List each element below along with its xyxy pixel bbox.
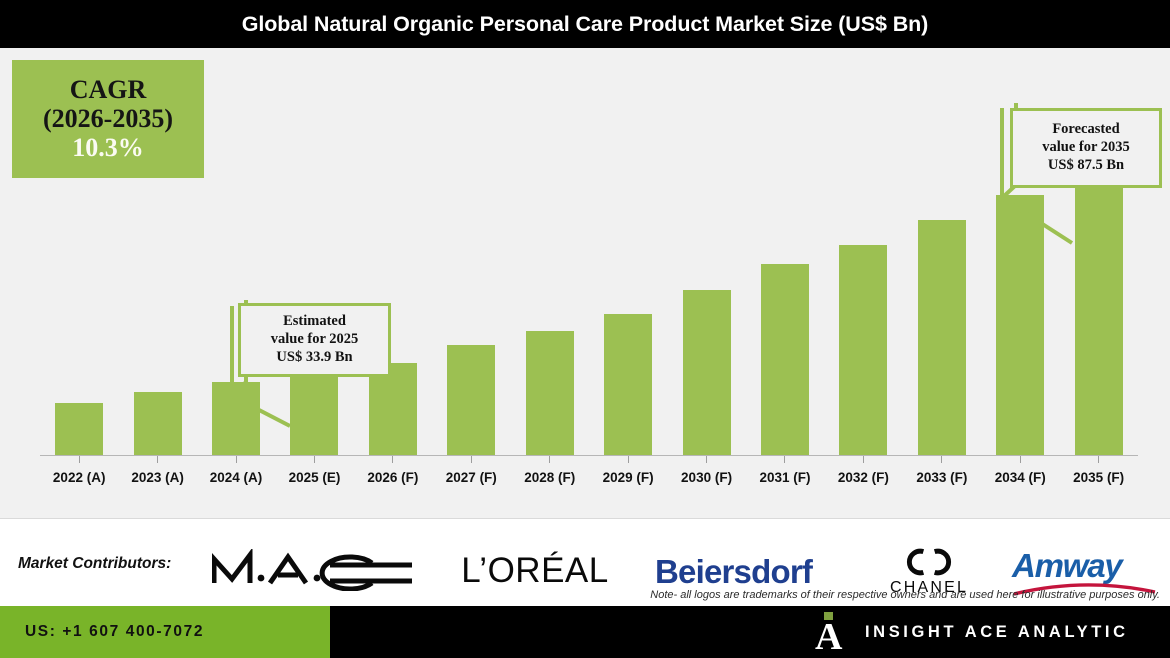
bar-slot <box>667 48 745 456</box>
x-tick: 2032 (F) <box>824 456 902 498</box>
bar[interactable] <box>918 220 966 456</box>
x-tick-mark <box>549 456 550 463</box>
title-bar: Global Natural Organic Personal Care Pro… <box>0 0 1170 48</box>
x-tick: 2028 (F) <box>511 456 589 498</box>
x-tick-label: 2034 (F) <box>995 470 1046 485</box>
bar[interactable] <box>839 245 887 456</box>
bar-slot <box>275 48 353 456</box>
x-tick: 2023 (A) <box>118 456 196 498</box>
market-contributors-band: Market Contributors: L’ORÉAL Beiersdorf <box>0 518 1170 606</box>
x-tick-mark <box>392 456 393 463</box>
callout-forecast-line1: Forecasted <box>1052 121 1119 139</box>
cagr-value: 10.3% <box>72 133 144 164</box>
x-tick-mark <box>471 456 472 463</box>
x-tick: 2035 (F) <box>1059 456 1137 498</box>
infographic-page: Global Natural Organic Personal Care Pro… <box>0 0 1170 658</box>
callout-estimated-2025: Estimated value for 2025 US$ 33.9 Bn <box>238 303 391 377</box>
x-tick: 2031 (F) <box>746 456 824 498</box>
cagr-period: (2026-2035) <box>43 104 173 133</box>
bar[interactable] <box>604 314 652 456</box>
footer-bar: US: +1 607 400-7072 A INSIGHT ACE ANALYT… <box>0 606 1170 658</box>
x-tick-label: 2023 (A) <box>131 470 184 485</box>
callout-forecast-line3: US$ 87.5 Bn <box>1048 157 1124 175</box>
loreal-logo: L’ORÉAL <box>440 551 630 591</box>
bar[interactable] <box>134 392 182 456</box>
brand-lockup: A INSIGHT ACE ANALYTIC <box>815 606 1129 658</box>
x-tick: 2025 (E) <box>275 456 353 498</box>
bar-slot <box>903 48 981 456</box>
bar[interactable] <box>447 345 495 456</box>
x-tick-mark <box>863 456 864 463</box>
x-tick-label: 2027 (F) <box>446 470 497 485</box>
footer-phone[interactable]: US: +1 607 400-7072 <box>25 623 204 641</box>
footer-contact-block: US: +1 607 400-7072 <box>0 606 330 658</box>
callout-forecast-line2: value for 2035 <box>1042 139 1130 157</box>
x-tick: 2030 (F) <box>667 456 745 498</box>
x-tick-mark <box>1020 456 1021 463</box>
bar-slot <box>589 48 667 456</box>
x-tick: 2027 (F) <box>432 456 510 498</box>
bar-slot <box>824 48 902 456</box>
x-tick: 2022 (A) <box>40 456 118 498</box>
x-tick-label: 2035 (F) <box>1073 470 1124 485</box>
bar[interactable] <box>683 290 731 456</box>
bar[interactable] <box>996 195 1044 456</box>
x-tick-label: 2024 (A) <box>210 470 263 485</box>
logo-disclaimer-note: Note- all logos are trademarks of their … <box>650 589 1160 601</box>
bar[interactable] <box>1075 160 1123 456</box>
insightace-logo-icon: A <box>815 612 847 652</box>
page-title: Global Natural Organic Personal Care Pro… <box>242 12 928 37</box>
bar[interactable] <box>55 403 103 456</box>
x-tick-mark <box>941 456 942 463</box>
brand-name: INSIGHT ACE ANALYTIC <box>865 623 1129 642</box>
x-tick-mark <box>1098 456 1099 463</box>
x-tick-mark <box>628 456 629 463</box>
chanel-double-c-icon <box>891 546 967 578</box>
x-tick-mark <box>157 456 158 463</box>
x-tick-label: 2030 (F) <box>681 470 732 485</box>
bar[interactable] <box>526 331 574 456</box>
x-tick-label: 2025 (E) <box>289 470 341 485</box>
bar[interactable] <box>761 264 809 456</box>
bar[interactable] <box>212 382 260 456</box>
cagr-label: CAGR <box>70 75 147 104</box>
x-tick-label: 2028 (F) <box>524 470 575 485</box>
callout-forecast-2035: Forecasted value for 2035 US$ 87.5 Bn <box>1010 108 1162 188</box>
bar-slot <box>511 48 589 456</box>
x-tick-label: 2022 (A) <box>53 470 106 485</box>
callout-estimated-line1: Estimated <box>283 313 346 331</box>
x-tick-label: 2026 (F) <box>367 470 418 485</box>
x-tick: 2033 (F) <box>903 456 981 498</box>
x-tick-mark <box>236 456 237 463</box>
x-tick-mark <box>706 456 707 463</box>
x-tick: 2034 (F) <box>981 456 1059 498</box>
x-tick-label: 2032 (F) <box>838 470 889 485</box>
x-tick: 2026 (F) <box>354 456 432 498</box>
brand-initial: A <box>815 622 842 652</box>
bar-slot <box>197 48 275 456</box>
beiersdorf-wordmark: Beiersdorf <box>655 553 812 591</box>
cagr-callout: CAGR (2026-2035) 10.3% <box>12 60 204 178</box>
callout-estimated-line3: US$ 33.9 Bn <box>276 349 352 367</box>
callout-estimated-line2: value for 2025 <box>271 331 359 349</box>
x-axis: 2022 (A)2023 (A)2024 (A)2025 (E)2026 (F)… <box>40 456 1138 498</box>
x-tick: 2029 (F) <box>589 456 667 498</box>
loreal-wordmark: L’ORÉAL <box>461 551 608 591</box>
x-tick-mark <box>784 456 785 463</box>
bar[interactable] <box>290 374 338 456</box>
chart-panel: 2022 (A)2023 (A)2024 (A)2025 (E)2026 (F)… <box>0 48 1170 518</box>
x-tick-label: 2033 (F) <box>916 470 967 485</box>
x-tick-mark <box>79 456 80 463</box>
bar-slot <box>354 48 432 456</box>
x-tick: 2024 (A) <box>197 456 275 498</box>
beiersdorf-logo: Beiersdorf <box>655 552 855 592</box>
bar-series <box>40 48 1138 456</box>
x-tick-label: 2031 (F) <box>759 470 810 485</box>
mac-logo <box>212 549 417 591</box>
market-contributors-label: Market Contributors: <box>18 555 171 573</box>
x-tick-mark <box>314 456 315 463</box>
bar-slot <box>746 48 824 456</box>
bar-slot <box>432 48 510 456</box>
amway-wordmark: Amway <box>1012 547 1122 584</box>
x-tick-label: 2029 (F) <box>603 470 654 485</box>
